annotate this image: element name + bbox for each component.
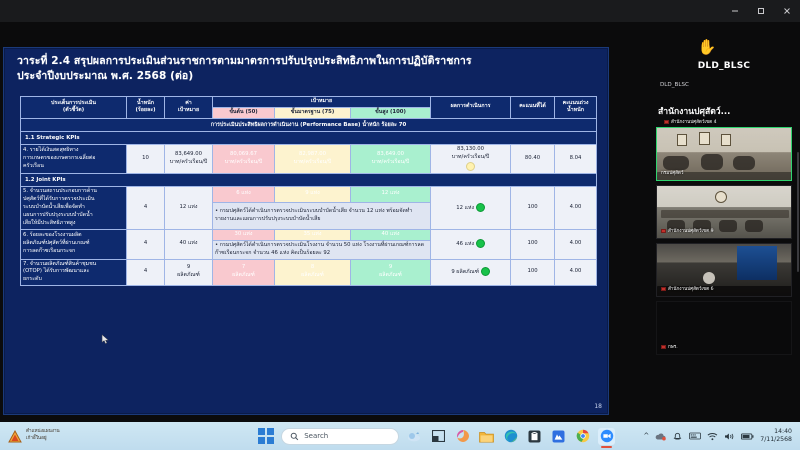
desktop-root: วาระที่ 2.4 สรุปผลการประเมินส่วนราชการตา…: [0, 0, 800, 450]
search-icon: [290, 432, 299, 441]
th-assessment-topic: ประเด็นการประเมิน (ตัวชี้วัด): [21, 97, 127, 119]
taskbar-file-explorer-icon[interactable]: [478, 428, 495, 445]
tray-overflow-chevron-icon[interactable]: ^: [643, 432, 649, 440]
section-label-strategic: 1.1 Strategic KPIs: [21, 131, 597, 144]
tile-1-name-label: กรมปศุสัตว์: [661, 170, 683, 177]
row-6-weighted: 4.00: [555, 229, 597, 259]
row-4-result: 83,130.00 บาท/ครัวเรือน/ปี: [431, 145, 511, 174]
row-4-target-value: 83,649.00 บาท/ครัวเรือน/ปี: [165, 145, 213, 174]
slide-title: วาระที่ 2.4 สรุปผลการประเมินส่วนราชการตา…: [5, 49, 607, 86]
active-speaker-block: ✋ DLD_BLSC: [656, 28, 792, 71]
thai-flag-icon: [661, 287, 666, 291]
mountain-app-icon: [552, 430, 565, 443]
row-7-target-value: 9 ผลิตภัณฑ์: [165, 259, 213, 286]
row-4-weighted: 8.04: [555, 145, 597, 174]
window-minimize-button[interactable]: [722, 0, 748, 22]
taskbar-zoom-icon[interactable]: [598, 428, 615, 445]
th-weighted-score: คะแนนถ่วง น้ำหนัก: [555, 97, 597, 119]
tile-1-top-label: สำนักงานปศุสัตว์เขต 4: [664, 119, 717, 126]
tile-3-name-label: สำนักงานปศุสัตว์เขต 6: [661, 286, 714, 293]
row-5-weighted: 4.00: [555, 187, 597, 230]
row-5-target-high: 12 แห่ง: [351, 187, 431, 203]
row-4-weight: 10: [127, 145, 165, 174]
active-speaker-chip: DLD_BLSC: [660, 82, 792, 88]
row-7-status-indicator: [481, 267, 490, 276]
row-7-score: 100: [511, 259, 555, 286]
taskbar-left-text: ตำแหน่งแผนงาน เก้าอี้ในอยู่: [26, 429, 60, 443]
window-maximize-button[interactable]: [748, 0, 774, 22]
participant-tile[interactable]: สำนักงานปศุสัตว์เขต 4 กรมปศุสัตว์: [656, 127, 792, 181]
thai-flag-icon: [661, 345, 666, 349]
row-6-weight: 4: [127, 229, 165, 259]
row-5-target-value: 12 แห่ง: [165, 187, 213, 230]
row-5-name: 5. จำนวนสถานประกอบการด้าน ปศุสัตว์ที่ได้…: [21, 187, 127, 230]
row-5-result: 12 แห่ง: [431, 187, 511, 230]
row-6-target-low: 30 แห่ง: [213, 229, 275, 240]
row-4-score: 80.40: [511, 145, 555, 174]
row-6-score: 100: [511, 229, 555, 259]
window-titlebar: [0, 0, 800, 22]
participant-tile[interactable]: กษร.: [656, 301, 792, 355]
zoom-icon: [600, 429, 614, 443]
taskbar-task-view-icon[interactable]: [430, 428, 447, 445]
window-close-button[interactable]: [774, 0, 800, 22]
row-4-target-low: 80,069.67 บาท/ครัวเรือน/ปี: [213, 145, 275, 174]
row-5-target-mid: 9 แห่ง: [275, 187, 351, 203]
search-placeholder: Search: [304, 432, 328, 440]
task-view-icon: [432, 430, 445, 442]
taskbar-mountain-app-icon[interactable]: [550, 428, 567, 445]
row-7-weight: 4: [127, 259, 165, 286]
section-row-joint: 1.2 Joint KPIs: [21, 173, 597, 186]
row-6-status-indicator: [476, 239, 485, 248]
volume-icon[interactable]: [724, 432, 735, 441]
tile-2-video[interactable]: สำนักงานปศุสัตว์เขต 9: [656, 185, 792, 239]
thai-flag-icon: [661, 229, 666, 233]
row-6-target-mid: 35 แห่ง: [275, 229, 351, 240]
row-7-target-high: 9 ผลิตภัณฑ์: [351, 259, 431, 286]
kpi-table: ประเด็นการประเมิน (ตัวชี้วัด) น้ำหนัก (ร…: [20, 96, 597, 286]
raised-hand-icon: ✋: [622, 40, 792, 55]
table-row[interactable]: 4. รายได้เงินสดสุทธิทาง การเกษตรของเกษตร…: [21, 145, 597, 174]
participant-tile[interactable]: สำนักงานปศุสัตว์เขต 6: [656, 243, 792, 297]
taskbar-search[interactable]: Search: [281, 428, 399, 445]
kpi-header-row-1: ประเด็นการประเมิน (ตัวชี้วัด) น้ำหนัก (ร…: [21, 97, 597, 108]
kpi-table-wrapper: ประเด็นการประเมิน (ตัวชี้วัด) น้ำหนัก (ร…: [20, 96, 596, 286]
tile-4-name-label: กษร.: [661, 344, 678, 351]
row-5-score: 100: [511, 187, 555, 230]
mouse-cursor-icon: [101, 334, 110, 345]
slide-page-number: 18: [594, 403, 602, 410]
slide-title-line2: ประจำปีงบประมาณ พ.ศ. 2568 (ต่อ): [17, 69, 597, 84]
row-7-target-low: 7 ผลิตภัณฑ์: [213, 259, 275, 286]
row-7-target-mid: 8 ผลิตภัณฑ์: [275, 259, 351, 286]
row-6-target-high: 40 แห่ง: [351, 229, 431, 240]
row-6-note: • กรมปศุสัตว์ได้ดำเนินการตรวจประเมินโรงง…: [213, 240, 431, 259]
thai-flag-icon: [664, 120, 669, 124]
performance-base-banner: การประเมินประสิทธิผลการดำเนินงาน (Perfor…: [21, 118, 597, 131]
start-button[interactable]: [258, 428, 274, 444]
clock-time: 14:40: [760, 428, 792, 436]
row-5-target-low: 6 แห่ง: [213, 187, 275, 203]
taskbar-edge-icon[interactable]: [502, 428, 519, 445]
row-7-result: 9 ผลิตภัณฑ์: [431, 259, 511, 286]
taskbar-store-icon[interactable]: [526, 428, 543, 445]
th-target-high: ขั้นสูง (100): [351, 107, 431, 118]
table-row[interactable]: 5. จำนวนสถานประกอบการด้าน ปศุสัตว์ที่ได้…: [21, 187, 597, 203]
tile-3-video[interactable]: สำนักงานปศุสัตว์เขต 6: [656, 243, 792, 297]
taskbar-center: Search: [230, 428, 643, 445]
battery-icon[interactable]: [741, 432, 754, 441]
store-icon: [528, 430, 541, 443]
weather-widget-icon: [407, 430, 422, 443]
taskbar-widgets-icon[interactable]: [406, 428, 423, 445]
rail-scrollbar[interactable]: [797, 152, 799, 272]
row-6-result: 46 แห่ง: [431, 229, 511, 259]
weather-triangle-icon: [8, 430, 22, 443]
th-target-group: เป้าหมาย: [213, 97, 431, 108]
clock-date: 7/11/2568: [760, 436, 792, 444]
row-4-status-indicator: [466, 162, 475, 171]
tile-4-video[interactable]: กษร.: [656, 301, 792, 355]
section-label-joint: 1.2 Joint KPIs: [21, 173, 597, 186]
presentation-slide: วาระที่ 2.4 สรุปผลการประเมินส่วนราชการตา…: [4, 48, 608, 414]
performance-base-banner-row: การประเมินประสิทธิผลการดำเนินงาน (Perfor…: [21, 118, 597, 131]
onedrive-icon[interactable]: [655, 432, 666, 441]
file-explorer-icon: [479, 430, 494, 443]
th-score: คะแนนที่ได้: [511, 97, 555, 119]
row-5-weight: 4: [127, 187, 165, 230]
row-7-name: 7. จำนวนผลิตภัณฑ์สินค้าชุมชน (OTOP) ได้ร…: [21, 259, 127, 286]
participants-rail[interactable]: ✋ DLD_BLSC DLD_BLSC สำนักงานปศุสัตว์... …: [648, 22, 800, 422]
th-target-value: ค่า เป้าหมาย: [165, 97, 213, 119]
row-4-target-high: 83,649.00 บาท/ครัวเรือน/ปี: [351, 145, 431, 174]
table-row[interactable]: 7. จำนวนผลิตภัณฑ์สินค้าชุมชน (OTOP) ได้ร…: [21, 259, 597, 286]
row-5-note: • กรมปศุสัตว์ได้ดำเนินการตรวจประเมินระบบ…: [213, 202, 431, 229]
edge-icon: [504, 429, 518, 443]
row-5-status-indicator: [476, 203, 485, 212]
taskbar-system-tray: ^: [643, 428, 800, 445]
active-speaker-name: DLD_BLSC: [656, 61, 792, 71]
slide-title-line1: วาระที่ 2.4 สรุปผลการประเมินส่วนราชการตา…: [17, 55, 472, 67]
th-target-mid: ขั้นมาตรฐาน (75): [275, 107, 351, 118]
th-target-low: ขั้นต้น (50): [213, 107, 275, 118]
chrome-icon: [576, 429, 590, 443]
organization-title: สำนักงานปศุสัตว์...: [658, 104, 792, 118]
row-4-name: 4. รายได้เงินสดสุทธิทาง การเกษตรของเกษตร…: [21, 145, 127, 174]
section-row-strategic: 1.1 Strategic KPIs: [21, 131, 597, 144]
th-result: ผลการดำเนินการ: [431, 97, 511, 119]
taskbar-left-widget[interactable]: ตำแหน่งแผนงาน เก้าอี้ในอยู่: [0, 429, 230, 443]
row-6-name: 6. ร้อยละของโรงงานผลิต ผลิตภัณฑ์ปศุสัตว์…: [21, 229, 127, 259]
row-6-target-value: 40 แห่ง: [165, 229, 213, 259]
notification-bell-icon[interactable]: [672, 432, 683, 441]
th-weight: น้ำหนัก (ร้อยละ): [127, 97, 165, 119]
windows-taskbar: ตำแหน่งแผนงาน เก้าอี้ในอยู่ Search: [0, 422, 800, 450]
taskbar-chrome-icon[interactable]: [574, 428, 591, 445]
tile-2-name-label: สำนักงานปศุสัตว์เขต 9: [661, 228, 714, 235]
tile-1-video[interactable]: กรมปศุสัตว์: [656, 127, 792, 181]
row-4-target-mid: 82,987.00 บาท/ครัวเรือน/ปี: [275, 145, 351, 174]
copilot-icon: [456, 429, 470, 443]
participant-tile[interactable]: สำนักงานปศุสัตว์เขต 9: [656, 185, 792, 239]
wifi-icon[interactable]: [707, 432, 718, 441]
row-7-weighted: 4.00: [555, 259, 597, 286]
shared-screen-stage[interactable]: วาระที่ 2.4 สรุปผลการประเมินส่วนราชการตา…: [0, 22, 648, 422]
taskbar-copilot-icon[interactable]: [454, 428, 471, 445]
keyboard-layout-icon[interactable]: [689, 432, 701, 440]
taskbar-clock[interactable]: 14:40 7/11/2568: [760, 428, 792, 445]
table-row[interactable]: 6. ร้อยละของโรงงานผลิต ผลิตภัณฑ์ปศุสัตว์…: [21, 229, 597, 240]
